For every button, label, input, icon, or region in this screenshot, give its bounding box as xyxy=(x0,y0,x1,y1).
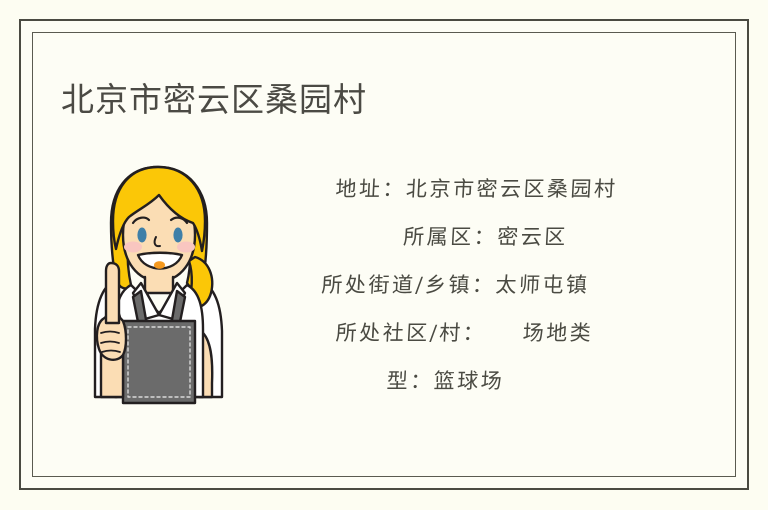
info-line-street-town: 所处街道/乡镇：太师屯镇 xyxy=(232,275,678,296)
right-cheek xyxy=(177,242,195,253)
venue-info-block: 地址：北京市密云区桑园村 所属区：密云区 所处街道/乡镇：太师屯镇 所处社区/村… xyxy=(233,179,678,392)
page-title: 北京市密云区桑园村 xyxy=(61,73,367,121)
left-eye xyxy=(137,228,146,243)
neck xyxy=(145,277,173,293)
card-frame-outer: 北京市密云区桑园村 xyxy=(19,19,749,490)
index-finger xyxy=(106,263,119,323)
info-line-venue-type: 型：篮球场 xyxy=(232,371,678,392)
info-line-address: 地址：北京市密云区桑园村 xyxy=(232,179,678,200)
right-eye xyxy=(173,228,182,243)
cartoon-woman-pointing-up-illustration xyxy=(83,161,233,406)
tongue xyxy=(154,261,165,269)
info-line-community-village: 所处社区/村： 场地类 xyxy=(232,323,678,344)
info-line-district: 所属区：密云区 xyxy=(232,227,678,248)
apron xyxy=(123,321,195,403)
left-cheek xyxy=(124,242,142,253)
